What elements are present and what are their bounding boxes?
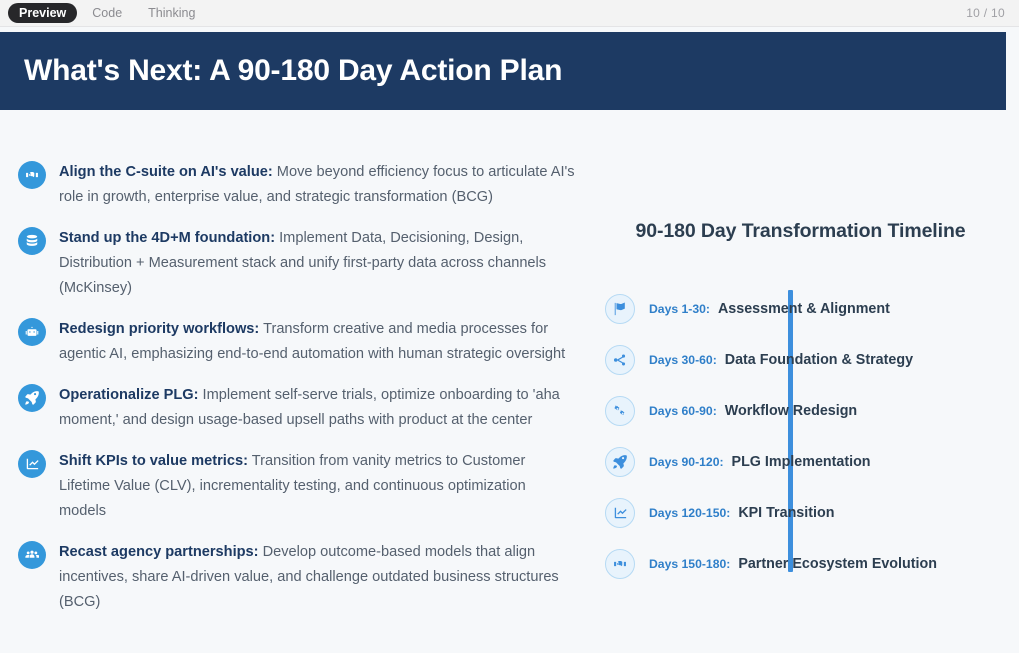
list-item-label: Redesign priority workflows: (59, 321, 259, 337)
list-item-text: Stand up the 4D+M foundation: Implement … (59, 226, 576, 301)
timeline-days: Days 120-150: (649, 506, 730, 520)
timeline-label: Partner Ecosystem Evolution (738, 556, 937, 572)
list-item: Shift KPIs to value metrics: Transition … (18, 449, 596, 524)
list-item: Days 30-60: Data Foundation & Strategy (596, 334, 1019, 385)
timeline-days: Days 150-180: (649, 557, 730, 571)
list-item-label: Align the C-suite on AI's value: (59, 164, 273, 180)
tab-code[interactable]: Code (81, 3, 133, 23)
list-item: Redesign priority workflows: Transform c… (18, 317, 596, 367)
timeline-days: Days 90-120: (649, 455, 724, 469)
list-item-text: Recast agency partnerships: Develop outc… (59, 540, 576, 615)
timeline-days: Days 60-90: (649, 404, 717, 418)
timeline-label: KPI Transition (738, 505, 834, 521)
rocket-icon (605, 447, 635, 477)
timeline-label: Data Foundation & Strategy (725, 352, 913, 368)
timeline-label: Assessment & Alignment (718, 301, 890, 317)
action-items-list: Align the C-suite on AI's value: Move be… (0, 110, 596, 653)
list-item-text: Operationalize PLG: Implement self-serve… (59, 383, 576, 433)
gears-icon (605, 396, 635, 426)
list-item: Stand up the 4D+M foundation: Implement … (18, 226, 596, 301)
list-item-label: Operationalize PLG: (59, 387, 198, 403)
timeline-label: PLG Implementation (732, 454, 871, 470)
list-item: Align the C-suite on AI's value: Move be… (18, 160, 596, 210)
users-icon (18, 541, 46, 569)
handshake-icon (18, 161, 46, 189)
slide-title: What's Next: A 90-180 Day Action Plan (0, 54, 562, 88)
list-item-text: Redesign priority workflows: Transform c… (59, 317, 576, 367)
timeline-title: 90-180 Day Transformation Timeline (596, 220, 1019, 243)
timeline-label: Workflow Redesign (725, 403, 857, 419)
chart-line-icon (18, 450, 46, 478)
database-icon (18, 227, 46, 255)
list-item: Days 1-30: Assessment & Alignment (596, 283, 1019, 334)
tab-thinking[interactable]: Thinking (137, 3, 206, 23)
robot-icon (18, 318, 46, 346)
slide-header-banner: What's Next: A 90-180 Day Action Plan (0, 32, 1006, 110)
list-item-label: Stand up the 4D+M foundation: (59, 230, 275, 246)
preview-toolbar: Preview Code Thinking 10 / 10 (0, 0, 1019, 27)
timeline-panel: 90-180 Day Transformation Timeline Days … (596, 110, 1019, 653)
tab-preview[interactable]: Preview (8, 3, 77, 23)
rocket-icon (18, 384, 46, 412)
page-counter: 10 / 10 (966, 6, 1005, 20)
list-item-text: Align the C-suite on AI's value: Move be… (59, 160, 576, 210)
list-item: Operationalize PLG: Implement self-serve… (18, 383, 596, 433)
timeline-milestone-list: Days 1-30: Assessment & Alignment Days 3… (596, 283, 1019, 589)
list-item-label: Shift KPIs to value metrics: (59, 453, 248, 469)
sitemap-icon (605, 345, 635, 375)
tab-list: Preview Code Thinking (8, 3, 206, 23)
timeline-days: Days 1-30: (649, 302, 710, 316)
timeline-days: Days 30-60: (649, 353, 717, 367)
list-item: Days 120-150: KPI Transition (596, 487, 1019, 538)
slide-canvas: What's Next: A 90-180 Day Action Plan Al… (0, 27, 1019, 653)
list-item: Days 60-90: Workflow Redesign (596, 385, 1019, 436)
flag-icon (605, 294, 635, 324)
list-item: Recast agency partnerships: Develop outc… (18, 540, 596, 615)
chart-line-icon (605, 498, 635, 528)
list-item: Days 90-120: PLG Implementation (596, 436, 1019, 487)
list-item: Days 150-180: Partner Ecosystem Evolutio… (596, 538, 1019, 589)
slide-body: Align the C-suite on AI's value: Move be… (0, 110, 1019, 653)
list-item-label: Recast agency partnerships: (59, 544, 259, 560)
handshake-icon (605, 549, 635, 579)
list-item-text: Shift KPIs to value metrics: Transition … (59, 449, 576, 524)
